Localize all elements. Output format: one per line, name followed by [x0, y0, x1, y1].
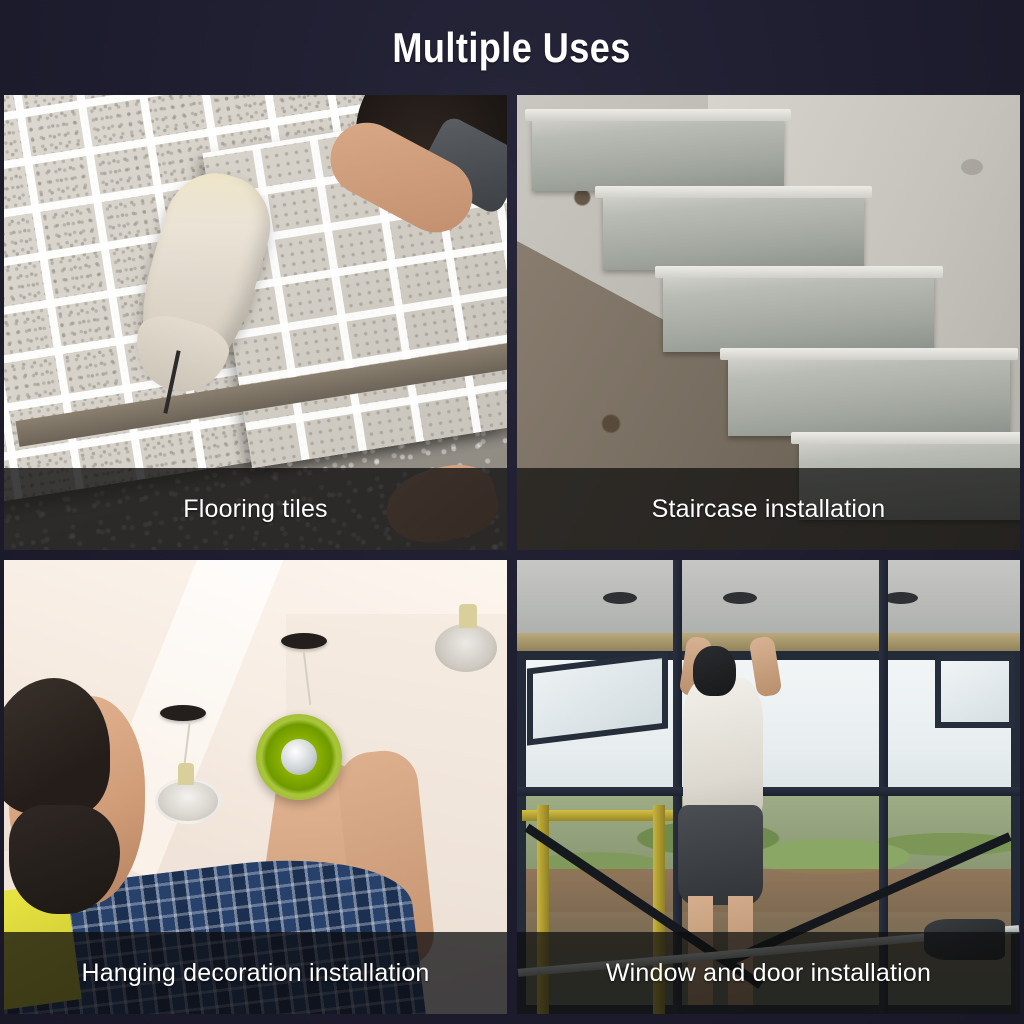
ceiling-downlight — [723, 592, 757, 604]
worker-torso — [683, 678, 763, 819]
tile-caption: Window and door installation — [606, 959, 931, 988]
tile-caption: Flooring tiles — [183, 495, 328, 524]
suspended-ceiling — [517, 560, 1020, 637]
tile-caption: Staircase installation — [652, 495, 886, 524]
window-mullion-horizontal — [517, 787, 1020, 796]
worker-shorts — [678, 805, 764, 905]
worker-head — [693, 646, 736, 696]
ceiling-downlight — [884, 592, 918, 604]
use-case-tile-flooring-tiles[interactable]: Flooring tiles — [4, 95, 507, 550]
green-downlight-fixture — [256, 714, 342, 800]
stair-step — [603, 195, 865, 270]
ceiling-downlight — [603, 592, 637, 604]
stair-step — [663, 275, 935, 352]
tile-caption: Hanging decoration installation — [81, 959, 429, 988]
use-case-tile-staircase-installation[interactable]: Staircase installation — [517, 95, 1020, 550]
window-vent-fixed — [935, 655, 1015, 728]
stair-step — [532, 118, 784, 191]
recessed-light-fixture — [435, 624, 497, 672]
recessed-light-fixture — [155, 778, 221, 824]
use-case-tile-window-and-door-installation[interactable]: Window and door installation — [517, 560, 1020, 1014]
stair-step — [728, 357, 1010, 437]
caption-band: Flooring tiles — [4, 468, 507, 550]
page-title: Multiple Uses — [393, 24, 631, 72]
caption-band: Hanging decoration installation — [4, 932, 507, 1014]
use-case-tile-hanging-decoration-installation[interactable]: Hanging decoration installation — [4, 560, 507, 1014]
caption-band: Window and door installation — [517, 932, 1020, 1014]
use-case-grid: Flooring tiles Staircase installation — [0, 95, 1024, 1014]
ceiling-cutout-hole — [281, 633, 327, 649]
product-feature-panel: Multiple Uses Flooring tiles — [0, 0, 1024, 1024]
caption-band: Staircase installation — [517, 468, 1020, 550]
header-bar: Multiple Uses — [0, 0, 1024, 95]
